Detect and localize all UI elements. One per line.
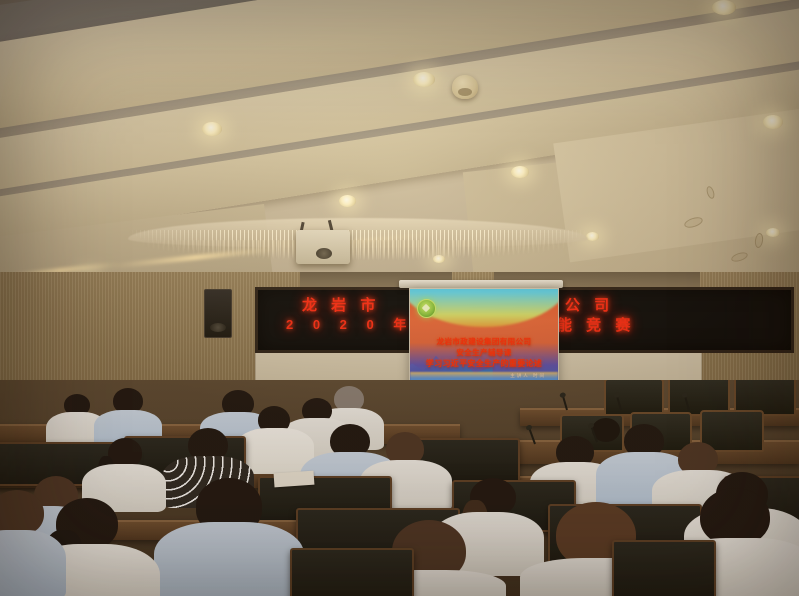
smoke-detector-icon (452, 75, 478, 99)
downlight-icon (511, 166, 529, 178)
chair-back[interactable] (604, 380, 664, 416)
led-banner-right-line1: 公 司 (565, 294, 614, 315)
bench-seat-back[interactable] (290, 548, 414, 596)
bench-seat-back[interactable] (612, 540, 716, 596)
attendee-torso (154, 522, 304, 596)
downlight-icon (763, 115, 783, 129)
downlight-icon (712, 0, 736, 15)
wall-speaker (204, 289, 232, 338)
downlight-icon (339, 195, 356, 207)
conference-hall-photo: 龙 岩 市 2 0 2 0 年 公 司 能 竞 赛 龙岩市政建设集团有限公司 安… (0, 0, 799, 596)
attendee-torso (0, 530, 66, 596)
projector-lens-icon (316, 248, 332, 259)
slide-title-line1: 龙岩市政建设集团有限公司 (410, 336, 558, 347)
downlight-icon (202, 122, 222, 136)
chandelier-rods-inner (138, 240, 578, 270)
crystal-rod-chandelier (128, 218, 588, 278)
led-banner-right: 公 司 能 竞 赛 (548, 287, 794, 353)
company-logo-icon (417, 299, 436, 318)
downlight-icon (413, 72, 435, 87)
slide-title-line2: 安全生产辅导课 (410, 347, 558, 358)
slide-subtitle: 主讲人 时间 (510, 373, 546, 379)
seating-area (0, 380, 799, 596)
slide-title-line3: 学习习近平安全生产的重要论述 (410, 358, 558, 369)
led-banner-left-line1: 龙 岩 市 (302, 294, 380, 315)
led-banner-left-line2: 2 0 2 0 年 (286, 314, 414, 333)
paper-sheet (274, 471, 315, 488)
downlight-icon (766, 228, 780, 237)
screen-housing (399, 280, 563, 288)
led-banner-right-line2: 能 竞 赛 (557, 314, 635, 335)
